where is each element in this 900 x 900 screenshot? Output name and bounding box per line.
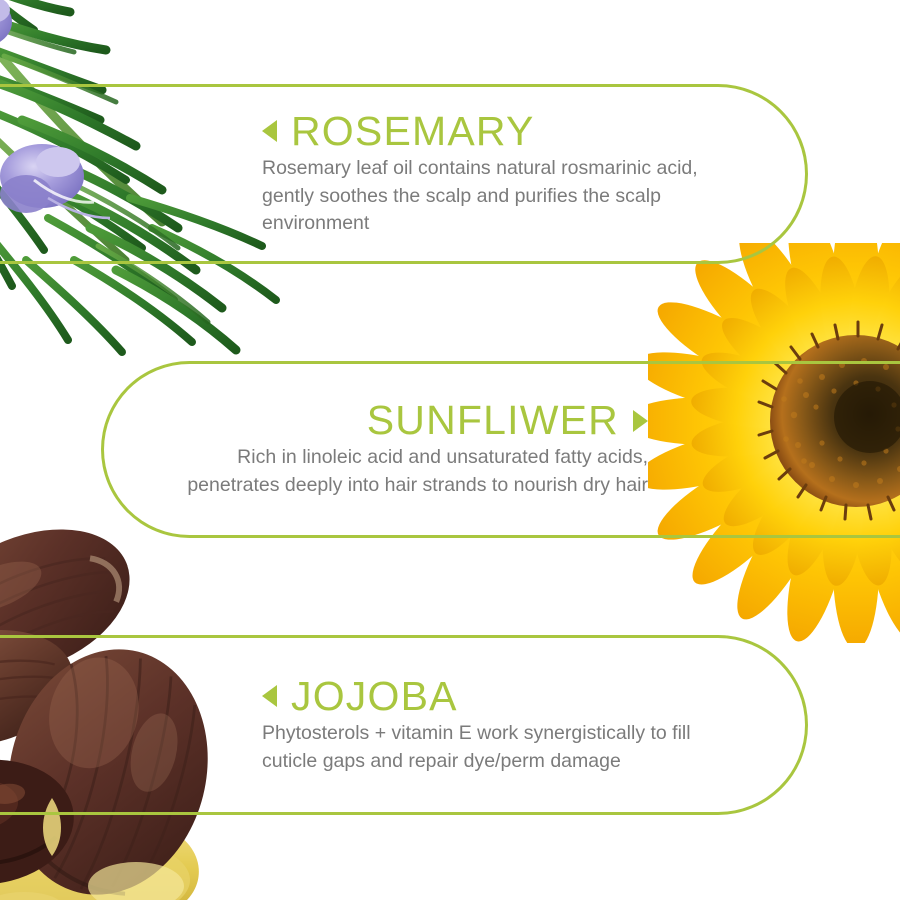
jojoba-description: Phytosterols + vitamin E work synergisti… xyxy=(262,720,733,775)
rosemary-description: Rosemary leaf oil contains natural rosma… xyxy=(262,155,725,238)
sunfliwer-title: SUNFLIWER xyxy=(367,399,619,442)
ingredient-card-jojoba[interactable]: JOJOBA Phytosterols + vitamin E work syn… xyxy=(0,635,808,815)
arrow-left-icon xyxy=(262,120,277,142)
arrow-left-icon xyxy=(262,685,277,707)
rosemary-title: ROSEMARY xyxy=(291,110,535,153)
jojoba-heading-row: JOJOBA xyxy=(262,675,733,718)
arrow-right-icon xyxy=(633,410,648,432)
sunfliwer-heading-row: SUNFLIWER xyxy=(184,399,648,442)
ingredient-card-rosemary[interactable]: ROSEMARY Rosemary leaf oil contains natu… xyxy=(0,84,808,264)
ingredient-card-sunfliwer[interactable]: SUNFLIWER Rich in linoleic acid and unsa… xyxy=(101,361,900,538)
jojoba-title: JOJOBA xyxy=(291,675,458,718)
rosemary-heading-row: ROSEMARY xyxy=(262,110,725,153)
infographic-canvas: ROSEMARY Rosemary leaf oil contains natu… xyxy=(0,0,900,900)
sunfliwer-description: Rich in linoleic acid and unsaturated fa… xyxy=(184,444,648,499)
